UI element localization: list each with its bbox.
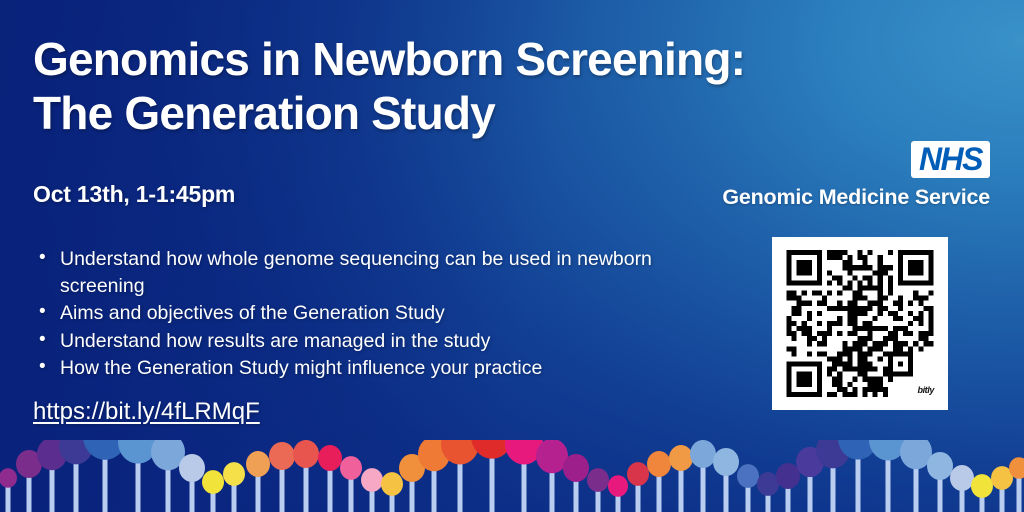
nhs-logo-mark: NHS [911,141,990,178]
registration-link[interactable]: https://bit.ly/4fLRMqF [33,398,260,426]
nhs-logo: NHS Genomic Medicine Service [722,141,990,210]
dna-helix-icon [0,440,1024,512]
title-line-2: The Generation Study [33,86,733,140]
dna-helix-strip [0,440,1024,512]
qr-code-icon [785,250,935,397]
event-datetime: Oct 13th, 1-1:45pm [33,181,235,208]
page-title: Genomics in Newborn Screening: The Gener… [33,32,733,141]
list-item: Understand how whole genome sequencing c… [33,246,713,299]
list-item: How the Generation Study might influence… [33,355,713,382]
qr-code-card[interactable]: bitly [772,237,948,410]
list-item: Understand how results are managed in th… [33,328,713,355]
nhs-strapline: Genomic Medicine Service [722,185,990,210]
learning-objectives-list: Understand how whole genome sequencing c… [33,246,713,383]
title-line-1: Genomics in Newborn Screening: [33,32,733,86]
nhs-logo-text: NHS [919,143,982,175]
list-item: Aims and objectives of the Generation St… [33,300,713,327]
bitly-watermark: bitly [917,385,934,395]
webinar-promo-poster: Genomics in Newborn Screening: The Gener… [0,0,1024,512]
